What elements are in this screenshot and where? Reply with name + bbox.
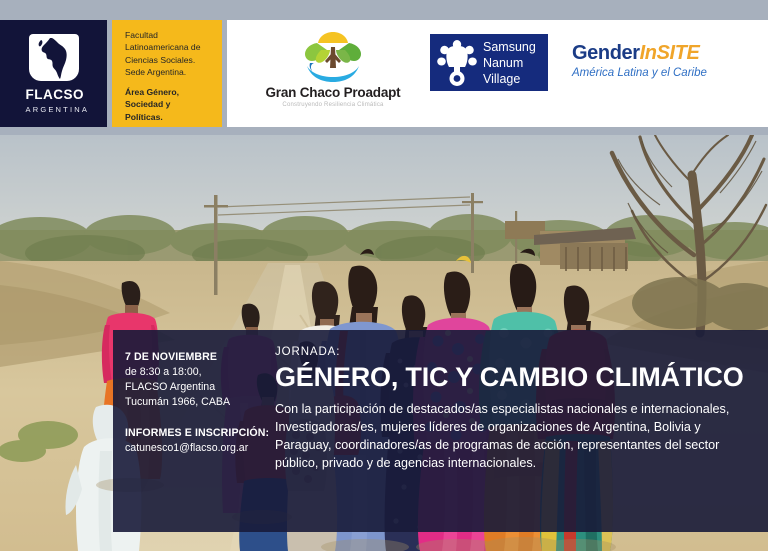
event-time: de 8:30 a 18:00,	[125, 365, 270, 380]
faculty-info-panel: Facultad Latinoamericana de Ciencias Soc…	[112, 20, 222, 127]
area-line-1: Área Género,	[125, 86, 222, 98]
event-kicker: JORNADA:	[275, 346, 760, 358]
gran-chaco-proadapt-logo: Gran Chaco Proadapt Construyendo Resilie…	[243, 30, 423, 108]
faculty-line-4: Sede Argentina.	[125, 66, 222, 78]
samsung-nanum-village-text: Samsung Nanum Village	[483, 39, 536, 87]
gran-chaco-title: Gran Chaco Proadapt	[243, 85, 423, 100]
event-main-column: JORNADA: GÉNERO, TIC Y CAMBIO CLIMÁTICO …	[275, 346, 760, 473]
gender-insite-logo: GenderInSITE América Latina y el Caribe	[572, 42, 762, 79]
nanum-hand-icon	[437, 40, 477, 86]
registration-label: INFORMES E INSCRIPCIÓN:	[125, 426, 270, 441]
flacso-logo: FLACSO ARGENTINA	[26, 34, 82, 113]
logo-header: FLACSO ARGENTINA Facultad Latinoamerican…	[0, 20, 768, 127]
samsung-line-2: Nanum	[483, 55, 536, 71]
faculty-line-1: Facultad	[125, 29, 222, 41]
registration-email[interactable]: catunesco1@flacso.org.ar	[125, 441, 270, 456]
event-address: Tucumán 1966, CABA	[125, 395, 270, 410]
tree-and-hand-icon	[297, 30, 369, 83]
flacso-logo-panel: FLACSO ARGENTINA	[0, 20, 107, 127]
event-description: Con la participación de destacados/as es…	[275, 401, 760, 473]
event-title: GÉNERO, TIC Y CAMBIO CLIMÁTICO	[275, 363, 760, 392]
samsung-line-3: Village	[483, 71, 536, 87]
samsung-nanum-village-logo: Samsung Nanum Village	[430, 34, 548, 91]
faculty-info-text: Facultad Latinoamericana de Ciencias Soc…	[112, 20, 222, 123]
partner-logos-panel: Gran Chaco Proadapt Construyendo Resilie…	[227, 20, 768, 127]
samsung-line-1: Samsung	[483, 39, 536, 55]
event-venue: FLACSO Argentina	[125, 380, 270, 395]
spacer	[125, 410, 270, 426]
gender-insite-region: América Latina y el Caribe	[572, 67, 762, 79]
gender-insite-wordmark: GenderInSITE	[572, 42, 762, 65]
gender-word: Gender	[572, 42, 640, 64]
area-line-3: Políticas.	[125, 111, 222, 123]
insite-word: InSITE	[640, 42, 700, 64]
gran-chaco-tagline: Construyendo Resiliencia Climática	[243, 102, 423, 108]
flacso-country-label: ARGENTINA	[26, 106, 82, 114]
faculty-line-3: Ciencias Sociales.	[125, 54, 222, 66]
flacso-wordmark: FLACSO	[26, 88, 82, 102]
area-line-2: Sociedad y	[125, 98, 222, 110]
americas-map-shield-icon	[29, 34, 79, 81]
event-details-column: 7 DE NOVIEMBRE de 8:30 a 18:00, FLACSO A…	[125, 350, 270, 456]
faculty-line-2: Latinoamericana de	[125, 41, 222, 53]
event-date: 7 DE NOVIEMBRE	[125, 350, 270, 365]
event-info-overlay: 7 DE NOVIEMBRE de 8:30 a 18:00, FLACSO A…	[113, 330, 768, 532]
event-flyer: FLACSO ARGENTINA Facultad Latinoamerican…	[0, 0, 768, 551]
